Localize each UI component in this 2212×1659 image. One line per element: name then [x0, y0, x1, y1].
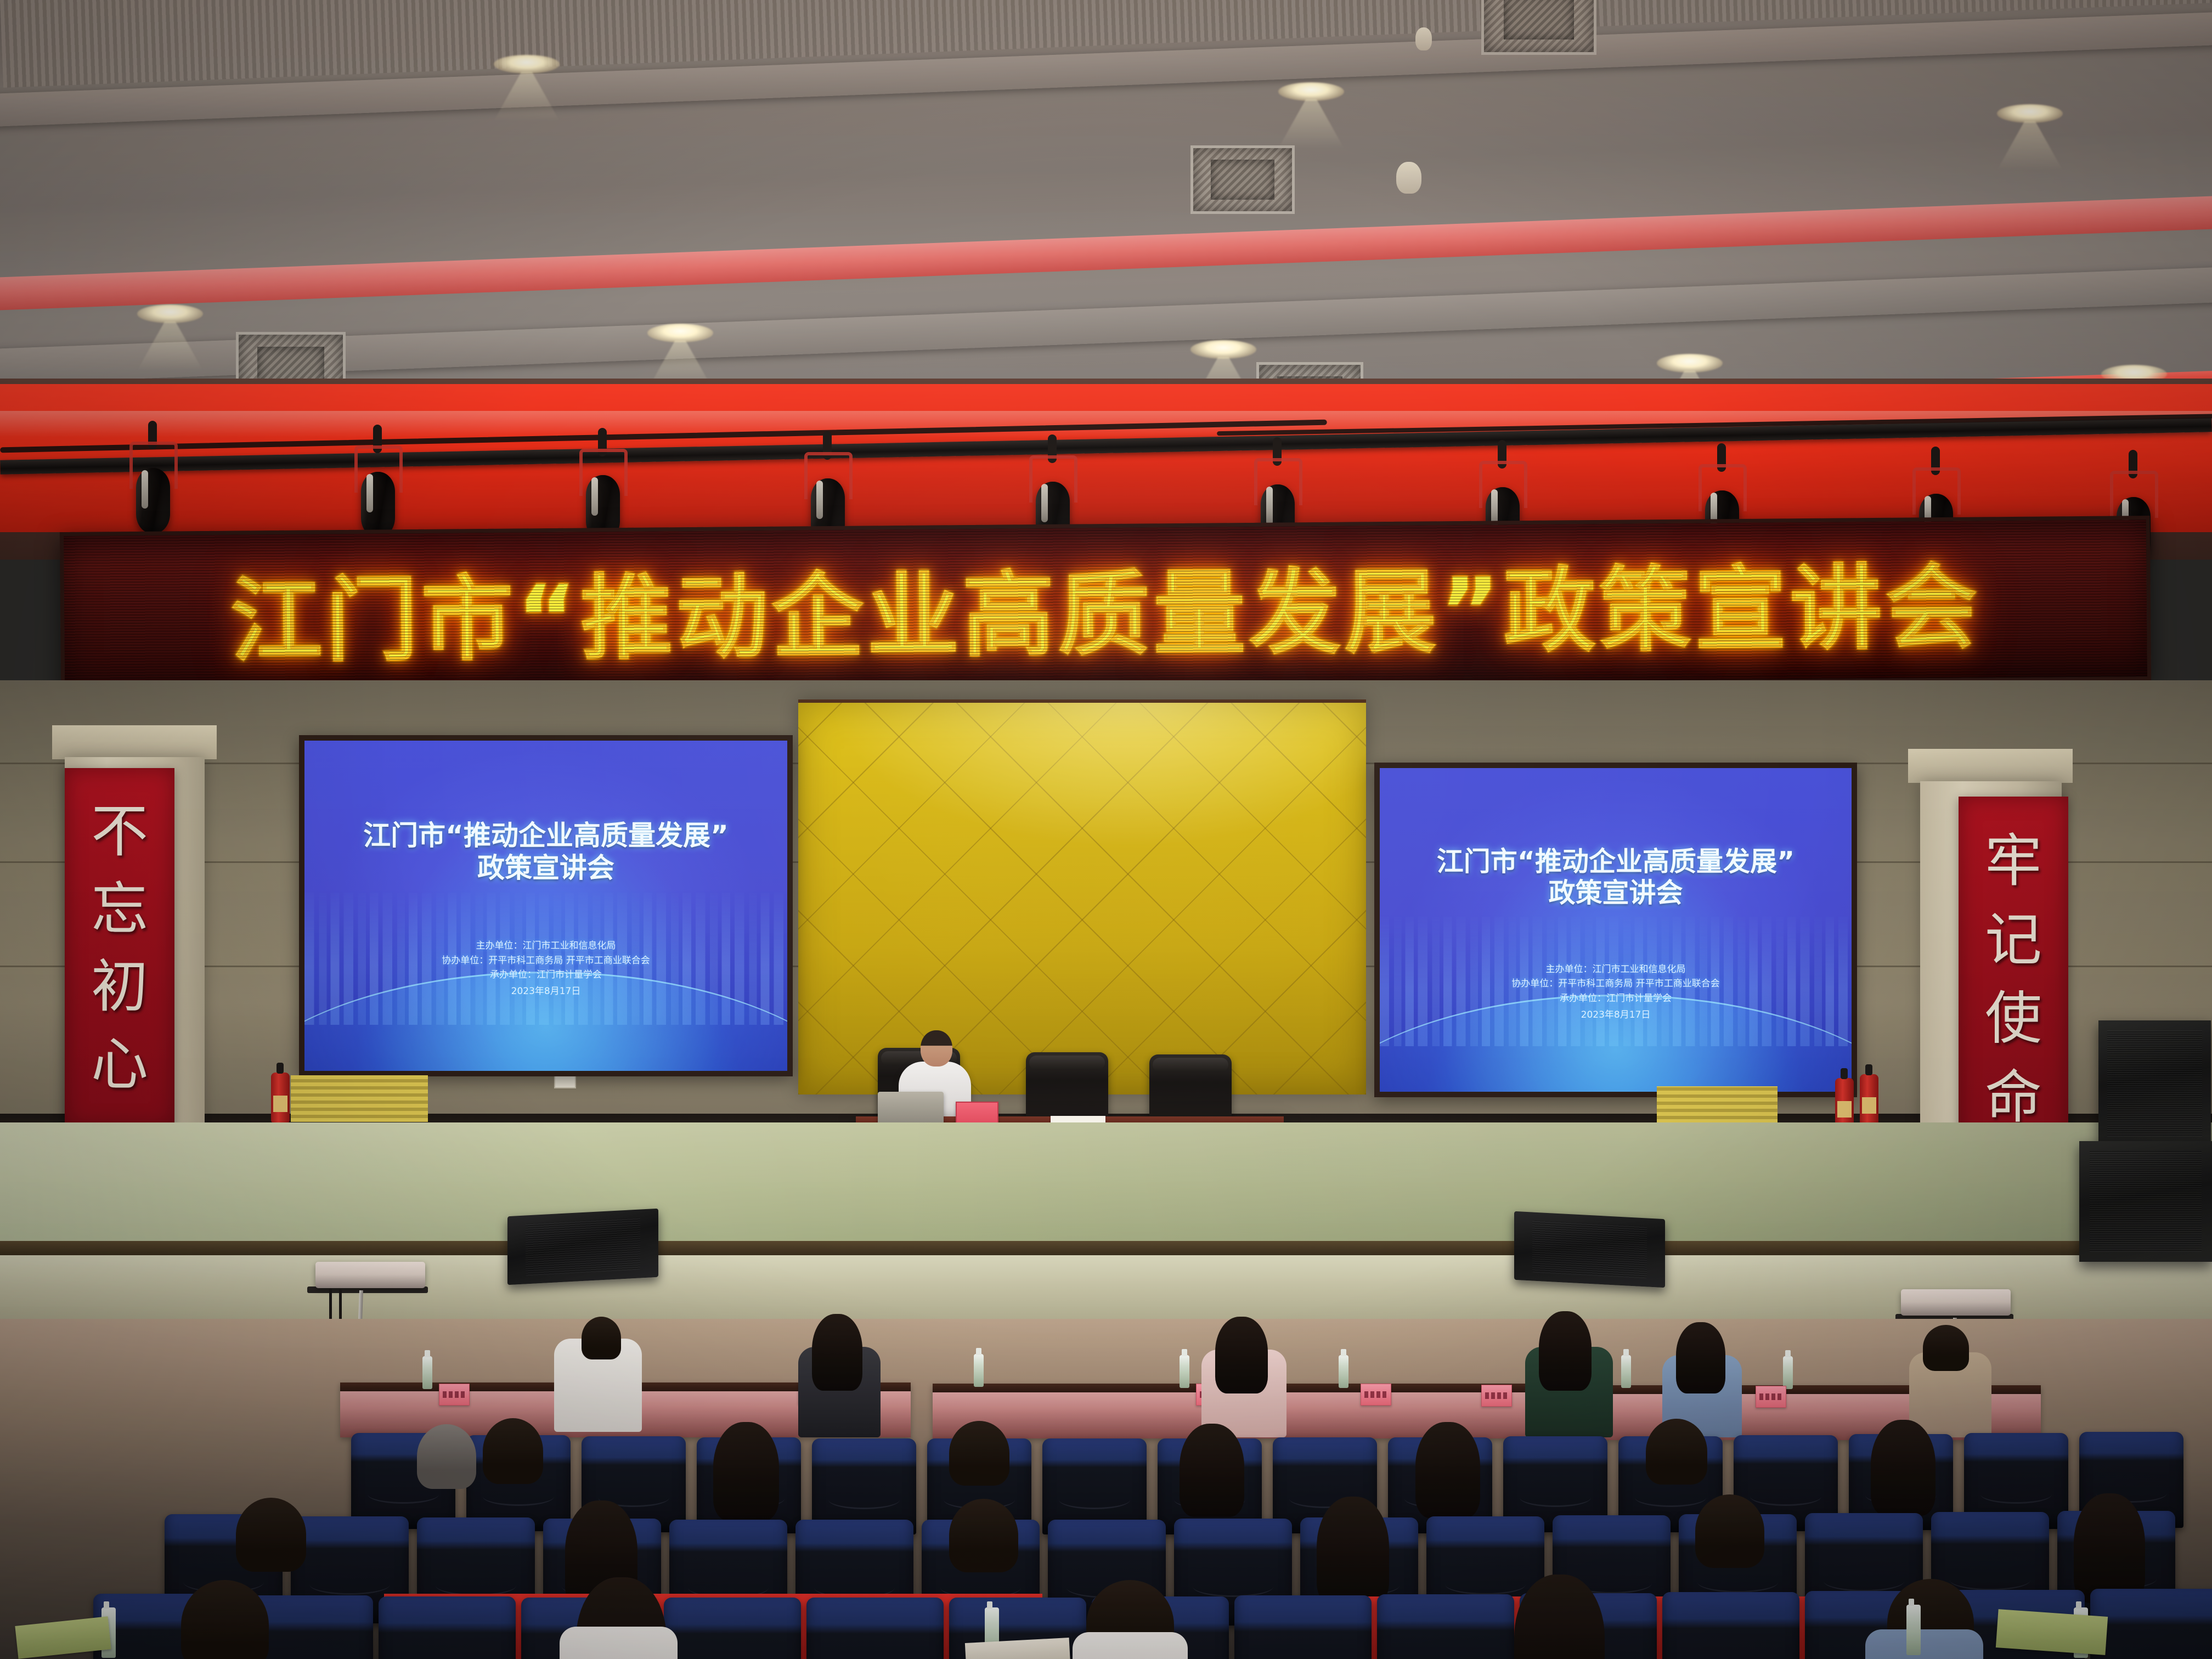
stage-gold-acoustic-panel: [798, 699, 1366, 1094]
water-bottle: [974, 1354, 984, 1387]
audience-person-head: [713, 1422, 779, 1521]
slide-org-host: 主办单位：江门市工业和信息化局: [304, 939, 787, 953]
slide-title-right: 江门市“推动企业高质量发展” 政策宣讲会: [1398, 846, 1832, 910]
ceiling-downlight: [1190, 340, 1256, 359]
stage-light-par-can: [126, 442, 181, 535]
ceiling-downlight: [137, 304, 203, 323]
hvac-vent: [1481, 0, 1596, 55]
audience-person-head: [1180, 1424, 1244, 1517]
pillar-banner-left: 不 忘 初 心: [65, 768, 174, 1127]
audience-name-card: [439, 1384, 470, 1406]
ceiling-downlight: [647, 324, 713, 342]
pillar-banner-right-char-4: 命: [1985, 1069, 2042, 1126]
audience-person-head: [1646, 1419, 1707, 1485]
audience-person-head: [812, 1314, 862, 1391]
pillar-banner-left-char-4: 心: [91, 1036, 148, 1093]
pillar-banner-right-char-2: 记: [1985, 911, 2042, 968]
projection-screen-right: 江门市“推动企业高质量发展” 政策宣讲会 主办单位：江门市工业和信息化局 协办单…: [1380, 768, 1852, 1092]
pillar-banner-left-char-3: 初: [91, 958, 148, 1015]
fire-extinguisher: [1835, 1078, 1854, 1128]
laptop[interactable]: [878, 1092, 944, 1126]
audience-seat[interactable]: [806, 1598, 944, 1659]
projector-left: [315, 1262, 425, 1288]
pillar-cap-left: [52, 725, 217, 759]
slide-title-line2: 政策宣讲会: [324, 852, 768, 884]
audience-seat[interactable]: [2090, 1589, 2212, 1659]
ceiling-downlight: [1278, 82, 1344, 101]
audience-person-head: [949, 1421, 1009, 1486]
fire-extinguisher: [1860, 1074, 1878, 1125]
ceiling-downlight: [1997, 104, 2063, 123]
water-bottle: [1339, 1355, 1348, 1388]
audience-person-head: [1871, 1420, 1936, 1516]
slide-organizers-right: 主办单位：江门市工业和信息化局 协办单位：开平市科工商务局 开平市工商业联合会 …: [1380, 962, 1852, 1022]
projection-screen-left: 江门市“推动企业高质量发展” 政策宣讲会 主办单位：江门市工业和信息化局 协办单…: [304, 741, 787, 1071]
slide-org-exec: 承办单位：江门市计量学会: [1380, 991, 1852, 1006]
pillar-banner-right: 牢 记 使 命: [1959, 797, 2068, 1161]
water-bottle: [1180, 1355, 1189, 1388]
audience-seat[interactable]: [379, 1596, 516, 1659]
audience-person-head: [582, 1317, 621, 1359]
audience-person-head: [1215, 1317, 1268, 1393]
conference-hall-photo: 江门市“推动企业高质量发展”政策宣讲会 不 忘 初 心 牢 记 使 命 江门市“…: [0, 0, 2212, 1659]
audience-person-head: [1923, 1325, 1969, 1371]
stage-monitor-left: [507, 1209, 658, 1285]
audience-name-card: [1481, 1385, 1512, 1407]
stage-light-par-can: [351, 445, 406, 539]
projector-right: [1901, 1289, 2011, 1316]
hvac-vent: [1190, 145, 1295, 214]
stage-chair-3[interactable]: [1149, 1054, 1232, 1125]
led-banner-text: 江门市“推动企业高质量发展”政策宣讲会: [230, 533, 1982, 680]
slide-organizers-left: 主办单位：江门市工业和信息化局 协办单位：开平市科工商务局 开平市工商业联合会 …: [304, 939, 787, 998]
slide-title-line1: 江门市“推动企业高质量发展”: [1398, 846, 1832, 878]
audience-seat[interactable]: [1234, 1595, 1372, 1659]
ceiling-downlight: [1657, 354, 1723, 373]
water-bottle: [1621, 1355, 1631, 1388]
audience-person-head: [417, 1424, 476, 1489]
audience-seat[interactable]: [1662, 1592, 1799, 1659]
smoke-detector: [1415, 27, 1432, 50]
speaker-head: [921, 1030, 952, 1066]
pillar-banner-right-char-3: 使: [1985, 990, 2042, 1047]
slide-org-co: 协办单位：开平市科工商务局 开平市工商业联合会: [1380, 977, 1852, 991]
audience-person-head: [483, 1418, 543, 1484]
projection-screen-right-frame: 江门市“推动企业高质量发展” 政策宣讲会 主办单位：江门市工业和信息化局 协办单…: [1374, 763, 1857, 1097]
led-banner: 江门市“推动企业高质量发展”政策宣讲会: [60, 516, 2151, 697]
stage-monitor-right: [1514, 1211, 1665, 1288]
audience-seat[interactable]: [1377, 1594, 1514, 1659]
pa-speaker-top: [2098, 1020, 2211, 1147]
audience-person-head: [1317, 1497, 1389, 1606]
slide-title-left: 江门市“推动企业高质量发展” 政策宣讲会: [324, 820, 768, 884]
audience-person-head: [2074, 1493, 2145, 1603]
pillar-banner-left-char-2: 忘: [91, 881, 148, 938]
projection-screen-left-frame: 江门市“推动企业高质量发展” 政策宣讲会 主办单位：江门市工业和信息化局 协办单…: [299, 735, 793, 1076]
audience-person: [1073, 1632, 1188, 1659]
audience-seat[interactable]: [664, 1598, 801, 1659]
handout-booklet[interactable]: [1996, 1609, 2108, 1655]
audience-person-head: [1676, 1322, 1725, 1393]
slide-date: 2023年8月17日: [1380, 1008, 1852, 1022]
slide-org-exec: 承办单位：江门市计量学会: [304, 968, 787, 982]
pillar-banner-left-char-1: 不: [91, 803, 148, 860]
water-bottle: [1783, 1356, 1793, 1389]
slide-date: 2023年8月17日: [304, 984, 787, 998]
water-bottle: [1906, 1605, 1921, 1655]
audience-person: [560, 1627, 678, 1659]
audience-person-head: [949, 1499, 1018, 1572]
slide-title-line1: 江门市“推动企业高质量发展”: [324, 820, 768, 852]
pillar-banner-right-char-1: 牢: [1985, 832, 2042, 889]
slide-title-line2: 政策宣讲会: [1398, 877, 1832, 909]
slide-org-host: 主办单位：江门市工业和信息化局: [1380, 962, 1852, 977]
audience-person-head: [1695, 1494, 1764, 1568]
audience-person-head: [1415, 1422, 1480, 1518]
pillar-cap-right: [1908, 749, 2073, 783]
audience-name-card: [1756, 1386, 1786, 1408]
audience-person-head: [1539, 1311, 1592, 1391]
audience-name-card: [1361, 1384, 1391, 1406]
fire-extinguisher: [271, 1073, 290, 1123]
stage-chair-2[interactable]: [1026, 1052, 1108, 1122]
water-bottle: [422, 1356, 432, 1389]
slide-org-co: 协办单位：开平市科工商务局 开平市工商业联合会: [304, 953, 787, 968]
stage-step-left: [291, 1075, 428, 1122]
ceiling: [0, 0, 2212, 439]
pa-speaker-sub: [2079, 1141, 2212, 1262]
smoke-detector: [1396, 162, 1421, 194]
audience-person: [1865, 1629, 1983, 1659]
audience-person-head: [236, 1498, 306, 1572]
ceiling-downlight: [494, 55, 560, 74]
stage-lip: [0, 1241, 2212, 1255]
